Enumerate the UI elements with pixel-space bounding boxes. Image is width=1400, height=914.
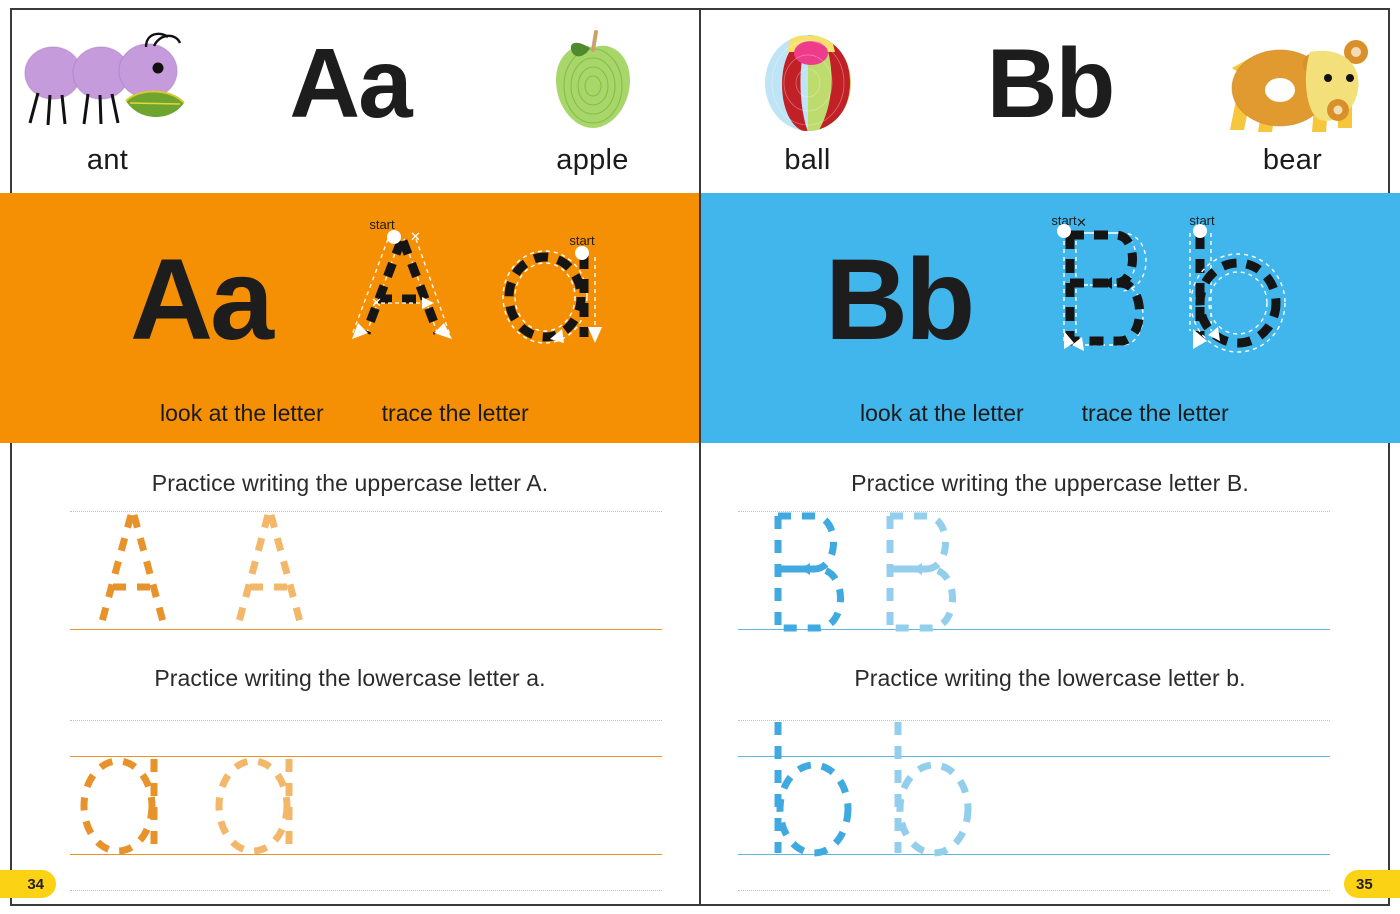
header-word-ant: ant [87,144,128,177]
page-gutter [699,8,701,906]
trace-letters-upper-a [78,511,378,633]
trace-letters-lower-a [78,756,378,856]
header-word-bear: bear [1263,144,1322,177]
header-item-ball: ball [700,10,915,177]
trace-guides-b-upper: start ✕ [1030,203,1180,363]
x-marker-start-b: ✕ [1076,215,1087,230]
bear-illustration [1210,28,1375,138]
start-label-upper-a: start [369,217,395,232]
header-word-ball: ball [784,144,830,177]
caption-look-at-letter-right: look at the letter [860,400,1024,427]
header-word-apple: apple [556,144,628,177]
page-number-right: 35 [1344,870,1400,898]
left-trace-band: Aa start ✕ [0,193,700,443]
ruled-area-lower-b[interactable] [700,706,1400,866]
trace-guides-b-lower: start [1160,203,1310,363]
left-practice-uppercase: Practice writing the uppercase letter A. [0,470,700,639]
right-page: ball Bb [700,0,1400,914]
header-letters-aa: Aa [289,34,410,132]
header-letters-bb: Bb [987,34,1114,132]
header-item-bear: bear [1185,10,1400,177]
rule-ascender-dotted [70,720,662,721]
band-letters-aa: Aa [130,243,271,358]
ruled-area-upper-a[interactable] [0,511,700,639]
caption-trace-letter-right: trace the letter [1082,400,1229,427]
workbook-spread: ant Aa [0,0,1400,914]
start-label-lower-a: start [569,233,595,248]
practice-title-lower-b: Practice writing the lowercase letter b. [700,665,1400,692]
ruled-area-upper-b[interactable] [700,511,1400,639]
caption-trace-letter-left: trace the letter [382,400,529,427]
caption-look-at-letter-left: look at the letter [160,400,324,427]
ruled-area-lower-a[interactable] [0,706,700,866]
header-item-ant: ant [0,10,215,177]
left-practice-lowercase: Practice writing the lowercase letter a. [0,665,700,866]
page-number-left: 34 [0,870,56,898]
practice-title-upper-a: Practice writing the uppercase letter A. [0,470,700,497]
practice-title-lower-a: Practice writing the lowercase letter a. [0,665,700,692]
x-marker-start-a: ✕ [410,229,421,244]
practice-title-upper-b: Practice writing the uppercase letter B. [700,470,1400,497]
rule-descender-dotted [70,890,662,891]
apple-illustration [538,28,648,138]
right-practice-lowercase: Practice writing the lowercase letter b. [700,665,1400,866]
right-header: ball Bb [700,10,1400,193]
left-band-captions: look at the letter trace the letter [0,400,700,427]
header-letters-wrap-right: Bb [930,10,1170,132]
rule-descender-dotted-b [738,890,1330,891]
right-trace-band: Bb start ✕ [700,193,1400,443]
trace-guides-a-lower: start [500,231,640,366]
band-letters-bb: Bb [825,243,972,358]
left-header: ant Aa [0,10,700,193]
left-page: ant Aa [0,0,700,914]
right-band-captions: look at the letter trace the letter [700,400,1400,427]
header-letters-wrap-left: Aa [230,10,470,132]
x-marker-crossbar: ✕ [371,295,382,310]
beachball-illustration [753,28,863,138]
trace-letters-lower-b [748,720,1048,856]
header-item-apple: apple [485,10,700,177]
right-practice-uppercase: Practice writing the uppercase letter B. [700,470,1400,639]
trace-letters-upper-b [748,511,1048,633]
ant-illustration [8,28,208,138]
